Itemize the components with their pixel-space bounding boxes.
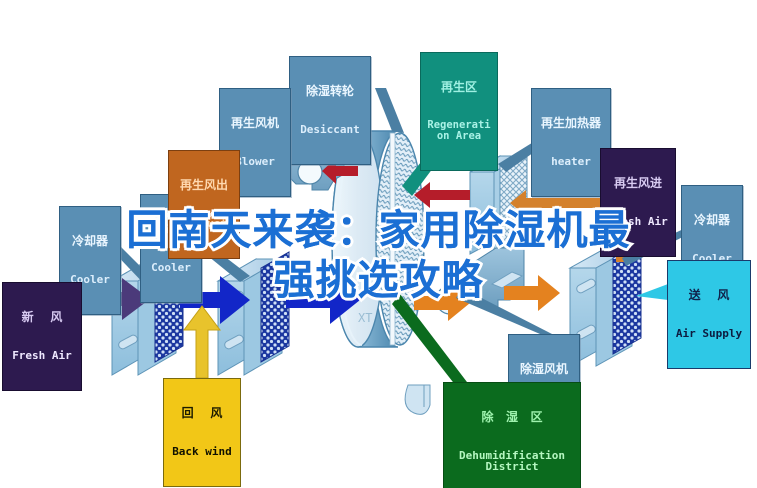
label-regen-exhaust-cn: 再生风出	[171, 179, 237, 192]
page-title-outline: 回南天来袭：家用除湿机最 强挑选攻略	[0, 205, 757, 305]
label-regen-intake-cn: 再生风进	[603, 177, 673, 190]
label-dehum-district-cn: 除 湿 区	[446, 411, 578, 424]
label-regen-heater-cn: 再生加热器	[534, 117, 608, 130]
rotor-drain-piece	[405, 385, 430, 414]
label-regen-heater-en: heater	[534, 156, 608, 168]
label-dehum-district-en: Dehumidification District	[446, 450, 578, 473]
diagram-canvas: XT 回南天来袭：家用除湿机最 强挑选攻略 回南天来袭：家用除湿机最 强挑选攻略…	[0, 0, 757, 488]
label-fresh-air-en: Fresh Air	[5, 350, 79, 362]
label-desiccant-en: Desiccant	[292, 124, 368, 136]
title-line-2: 强挑选攻略	[0, 255, 757, 305]
title-line-1: 回南天来袭：家用除湿机最	[0, 205, 757, 255]
label-back-wind-en: Back wind	[166, 446, 238, 458]
label-desiccant: 除湿转轮 Desiccant	[289, 56, 371, 165]
label-back-wind-cn: 回 风	[166, 407, 238, 420]
label-dehum-blower-cn: 除湿风机	[511, 363, 577, 376]
label-air-supply-en: Air Supply	[670, 328, 748, 340]
rotor-watermark: XT	[358, 311, 372, 325]
label-dehum-district: 除 湿 区 Dehumidification District	[443, 382, 581, 488]
label-desiccant-cn: 除湿转轮	[292, 85, 368, 98]
label-regen-area-cn: 再生区	[423, 81, 495, 94]
label-regen-area: 再生区 Regenerati on Area	[420, 52, 498, 171]
label-regen-blower-cn: 再生风机	[222, 117, 288, 130]
arrow-back-wind-yellow	[184, 306, 220, 378]
label-back-wind: 回 风 Back wind	[163, 378, 241, 487]
label-regen-heater: 再生加热器 heater	[531, 88, 611, 197]
label-regen-area-en: Regenerati on Area	[423, 120, 495, 142]
label-fresh-air-cn: 新 风	[5, 311, 79, 324]
